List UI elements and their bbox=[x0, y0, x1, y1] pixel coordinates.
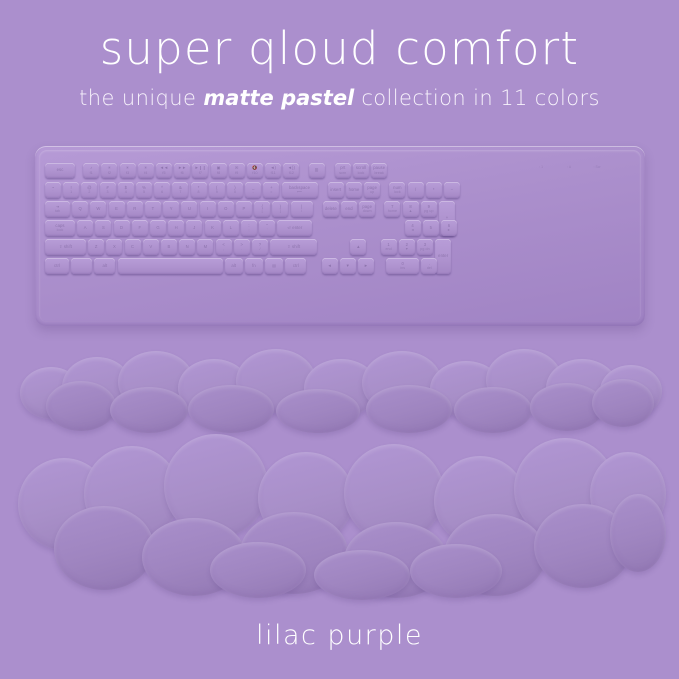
key-[interactable]: ✉f9 bbox=[229, 163, 245, 178]
key-[interactable]: }] bbox=[272, 201, 288, 217]
key-legend-secondary: f6 bbox=[181, 171, 184, 175]
key-insert[interactable]: insert bbox=[328, 182, 344, 198]
key-legend-secondary: f7 bbox=[199, 171, 202, 175]
key-[interactable]: ► bbox=[358, 258, 374, 274]
key-backspace[interactable]: backspace⟵ bbox=[282, 182, 318, 198]
wrist-rest-lobe bbox=[276, 389, 360, 433]
key-legend-secondary: del bbox=[427, 266, 432, 270]
key-legend: − bbox=[451, 188, 454, 193]
key-k[interactable]: K bbox=[205, 220, 221, 236]
key-legend-secondary: end bbox=[385, 247, 391, 251]
key-legend-secondary: f12 bbox=[289, 171, 294, 175]
key-num[interactable]: numlock bbox=[389, 182, 405, 198]
key-legend: Z bbox=[95, 245, 98, 250]
key-o[interactable]: O bbox=[218, 201, 234, 217]
key-w[interactable]: W bbox=[90, 201, 106, 217]
wrist-rest-lobe bbox=[210, 542, 306, 598]
key-page[interactable]: pagedown bbox=[359, 201, 375, 217]
key-[interactable]: − bbox=[444, 182, 460, 198]
key-[interactable]: ▣f8 bbox=[211, 163, 227, 178]
key-legend: A bbox=[84, 226, 87, 231]
key-[interactable]: ◄))f12 bbox=[283, 163, 299, 178]
key-shift[interactable]: ⇧ shift bbox=[270, 239, 317, 255]
key-legend: N bbox=[186, 245, 189, 250]
key-legend: esc bbox=[57, 168, 64, 173]
key-[interactable]: ~` bbox=[45, 182, 61, 198]
key-legend-secondary: . bbox=[241, 247, 242, 251]
key-legend-secondary: 3 bbox=[107, 190, 109, 194]
key-legend-secondary: lock bbox=[358, 171, 365, 175]
key-legend-secondary: f11 bbox=[271, 171, 276, 175]
key-shift[interactable]: ⇧ shift bbox=[45, 239, 86, 255]
key-legend: Q bbox=[79, 207, 82, 212]
key-6[interactable]: 6► bbox=[441, 220, 457, 236]
key-legend-secondary: 6 bbox=[161, 190, 163, 194]
key-legend-secondary: 5 bbox=[143, 190, 145, 194]
subheadline-prefix: the unique bbox=[79, 86, 203, 110]
key-f[interactable]: F bbox=[132, 220, 148, 236]
key-legend-secondary: scrn bbox=[339, 171, 346, 175]
key-[interactable]: / bbox=[408, 182, 424, 198]
key-legend: E bbox=[115, 207, 118, 212]
key-[interactable]: |\ bbox=[291, 201, 313, 217]
key-legend: alt bbox=[231, 264, 236, 269]
key-legend-secondary: 4 bbox=[125, 190, 127, 194]
key-[interactable]: ▼ bbox=[340, 258, 356, 274]
key-legend: Y bbox=[170, 207, 173, 212]
key-legend: ⏎ enter bbox=[287, 226, 302, 231]
key-end[interactable]: end bbox=[341, 201, 357, 217]
key-legend: ► bbox=[364, 264, 368, 269]
key-legend: ▤ bbox=[272, 264, 276, 269]
key-legend: end bbox=[345, 207, 352, 212]
key-[interactable]: ◄◄f5 bbox=[156, 163, 172, 178]
key-legend-secondary: ▲ bbox=[409, 209, 413, 213]
mouse-wrist-rest bbox=[14, 432, 666, 602]
key-legend-secondary: f5 bbox=[162, 171, 165, 175]
wrist-rest-lobe bbox=[110, 387, 188, 433]
key-7[interactable]: 7home bbox=[384, 201, 400, 217]
key-legend-secondary: f9 bbox=[235, 171, 238, 175]
key-legend: delete bbox=[325, 207, 337, 212]
key-fn[interactable]: fn bbox=[245, 258, 263, 274]
key-legend-secondary: f2 bbox=[108, 171, 111, 175]
key-legend: F bbox=[138, 226, 141, 231]
key-[interactable]: >. bbox=[234, 239, 250, 255]
key-ctrl[interactable]: ctrl bbox=[45, 258, 69, 274]
key-8[interactable]: 8▲ bbox=[403, 201, 419, 217]
key-[interactable]: += bbox=[263, 182, 279, 198]
key-legend-secondary: ' bbox=[267, 228, 268, 232]
key-x[interactable]: X bbox=[106, 239, 122, 255]
key-legend-secondary: 9 bbox=[216, 190, 218, 194]
key-[interactable]: ►►f6 bbox=[174, 163, 190, 178]
key-[interactable]: ⇥tab bbox=[45, 201, 70, 217]
key-legend: / bbox=[415, 188, 416, 193]
key-legend: fn bbox=[252, 264, 256, 269]
key-[interactable]: {[ bbox=[254, 201, 270, 217]
key-legend: K bbox=[211, 226, 214, 231]
key-[interactable]: ►❙❙f7 bbox=[192, 163, 208, 178]
key-d[interactable]: D bbox=[114, 220, 130, 236]
subheadline-emphasis: matte pastel bbox=[203, 86, 354, 110]
key-[interactable]: $4 bbox=[118, 182, 134, 198]
key-legend-secondary: home bbox=[388, 209, 397, 213]
key-[interactable]: %5 bbox=[136, 182, 152, 198]
key-legend: I bbox=[207, 207, 208, 212]
key-esc[interactable]: esc bbox=[45, 163, 75, 178]
key-legend-secondary: - bbox=[253, 190, 254, 194]
key-legend-secondary: lock bbox=[394, 190, 401, 194]
key-legend-secondary: ins bbox=[400, 266, 405, 270]
wrist-rest-lobe bbox=[188, 385, 274, 433]
key-legend: S bbox=[102, 226, 105, 231]
key-legend-secondary: f8 bbox=[217, 171, 220, 175]
key-[interactable]: &7 bbox=[172, 182, 188, 198]
key-legend: ctrl bbox=[54, 264, 60, 269]
key-[interactable]: @2 bbox=[81, 182, 97, 198]
key-0[interactable]: 0ins bbox=[386, 258, 419, 274]
key-legend: T bbox=[152, 207, 155, 212]
wrist-rest-lobe bbox=[610, 494, 666, 572]
key-u[interactable]: U bbox=[181, 201, 197, 217]
key-prt[interactable]: prtscrn bbox=[335, 163, 351, 178]
wrist-rest-lobe bbox=[314, 550, 410, 600]
key-legend-secondary: 0 bbox=[234, 190, 236, 194]
key-[interactable]: ▤ bbox=[265, 258, 283, 274]
key-[interactable]: _- bbox=[245, 182, 261, 198]
key-blank[interactable] bbox=[71, 258, 92, 274]
key-legend-secondary: pg up bbox=[424, 209, 434, 213]
keyboard-wrist-rest bbox=[18, 345, 662, 435]
key-blank[interactable] bbox=[118, 258, 223, 274]
key-legend-secondary: f10 bbox=[252, 171, 257, 175]
key-legend-secondary: ] bbox=[280, 209, 281, 213]
key-legend-secondary: / bbox=[259, 247, 260, 251]
key-g[interactable]: G bbox=[150, 220, 166, 236]
key-legend: enter bbox=[438, 254, 448, 259]
keyboard-product-image: esc♪f1✳f2✳f3✳f4◄◄f5►►f6►❙❙f7▣f8✉f9🔇f10◄)… bbox=[35, 146, 645, 326]
key-legend: ctrl bbox=[293, 264, 299, 269]
wrist-rest-lobe bbox=[410, 544, 502, 598]
key-2[interactable]: 2▼ bbox=[399, 239, 415, 255]
key-legend: ⇧ shift bbox=[59, 245, 72, 250]
key-legend-secondary: ⟵ bbox=[297, 190, 302, 194]
key-legend-secondary: ; bbox=[248, 228, 249, 232]
key-legend: V bbox=[149, 245, 152, 250]
key-v[interactable]: V bbox=[143, 239, 159, 255]
key-a[interactable]: A bbox=[77, 220, 93, 236]
key-legend-secondary: ` bbox=[52, 190, 53, 194]
key-y[interactable]: Y bbox=[163, 201, 179, 217]
key-page[interactable]: pageup bbox=[364, 182, 380, 198]
key-legend-secondary: ► bbox=[447, 228, 451, 232]
key-delete[interactable]: delete bbox=[323, 201, 339, 217]
key-p[interactable]: P bbox=[236, 201, 252, 217]
key-legend: 5 bbox=[430, 226, 432, 231]
key-legend: H bbox=[175, 226, 178, 231]
key-legend: X bbox=[113, 245, 116, 250]
wrist-rest-lobe bbox=[454, 387, 532, 433]
key-pause[interactable]: pausebreak bbox=[371, 163, 387, 178]
key-legend-secondary: ▼ bbox=[405, 247, 409, 251]
key-[interactable]: !1 bbox=[63, 182, 79, 198]
key-legend-secondary: pg dn bbox=[420, 247, 430, 251]
key-scroll[interactable]: scrolllock bbox=[353, 163, 369, 178]
key-q[interactable]: Q bbox=[72, 201, 88, 217]
key-[interactable]: ◄)f11 bbox=[265, 163, 281, 178]
key-[interactable]: ▲ bbox=[350, 239, 366, 255]
wrist-rest-lobe bbox=[366, 385, 452, 433]
key-c[interactable]: C bbox=[125, 239, 141, 255]
key-legend: C bbox=[131, 245, 134, 250]
key-b[interactable]: B bbox=[161, 239, 177, 255]
key-legend-secondary: 7 bbox=[179, 190, 181, 194]
key-legend-secondary: down bbox=[363, 209, 372, 213]
key-enter[interactable]: ⏎ enter bbox=[277, 220, 312, 236]
key-legend: home bbox=[349, 188, 360, 193]
key-legend-secondary: f3 bbox=[126, 171, 129, 175]
key-4[interactable]: 4◄ bbox=[405, 220, 421, 236]
key-home[interactable]: home bbox=[346, 182, 362, 198]
key-legend: ▼ bbox=[346, 264, 350, 269]
key-[interactable]: *8 bbox=[191, 182, 207, 198]
key-l[interactable]: L bbox=[223, 220, 239, 236]
key-legend: G bbox=[156, 226, 159, 231]
key-enter[interactable]: enter bbox=[435, 239, 451, 274]
key-legend: M bbox=[204, 245, 208, 250]
key-r[interactable]: R bbox=[127, 201, 143, 217]
key-legend: ⇧ shift bbox=[287, 245, 300, 250]
key-n[interactable]: N bbox=[179, 239, 195, 255]
key-[interactable]: ✳f2 bbox=[101, 163, 117, 178]
key-legend-secondary: ◄ bbox=[411, 228, 415, 232]
key-[interactable]: "' bbox=[259, 220, 275, 236]
key-[interactable]: #3 bbox=[100, 182, 116, 198]
wrist-rest-lobe bbox=[592, 379, 654, 427]
key-z[interactable]: Z bbox=[88, 239, 104, 255]
key-[interactable]: ✳f3 bbox=[120, 163, 136, 178]
key-legend: ▥ bbox=[315, 168, 319, 173]
wrist-rest-lobe bbox=[54, 506, 154, 590]
key-[interactable]: )0 bbox=[227, 182, 243, 198]
key-legend-secondary: 2 bbox=[88, 190, 90, 194]
key-[interactable]: ^6 bbox=[154, 182, 170, 198]
key-legend-secondary: , bbox=[223, 247, 224, 251]
key-[interactable]: 🔇f10 bbox=[247, 163, 263, 178]
key-legend: * bbox=[433, 188, 435, 193]
key-e[interactable]: E bbox=[109, 201, 125, 217]
indicator-led-0: ◦ 1 bbox=[535, 164, 547, 169]
key-[interactable]: ?/ bbox=[252, 239, 268, 255]
key-legend: insert bbox=[330, 188, 341, 193]
key-ctrl[interactable]: ctrl bbox=[285, 258, 306, 274]
key-[interactable]: ✳f4 bbox=[138, 163, 154, 178]
key-[interactable]: <, bbox=[216, 239, 232, 255]
key-[interactable]: (9 bbox=[209, 182, 225, 198]
key-[interactable]: * bbox=[426, 182, 442, 198]
key-legend-secondary: tab bbox=[55, 209, 60, 213]
key-legend: ▲ bbox=[356, 245, 360, 250]
key-legend-secondary: up bbox=[370, 190, 374, 194]
key-m[interactable]: M bbox=[197, 239, 213, 255]
key-legend: P bbox=[243, 207, 246, 212]
key-legend-secondary: = bbox=[270, 190, 272, 194]
key-1[interactable]: 1end bbox=[381, 239, 397, 255]
key-[interactable]: ◄ bbox=[322, 258, 338, 274]
key-[interactable]: :; bbox=[241, 220, 257, 236]
indicator-led-1: ◦ A bbox=[563, 164, 575, 169]
key-legend-secondary: f1 bbox=[90, 171, 93, 175]
key-caps[interactable]: capslock bbox=[45, 220, 75, 236]
key-h[interactable]: H bbox=[168, 220, 184, 236]
key-legend: D bbox=[120, 226, 123, 231]
key-legend: W bbox=[96, 207, 100, 212]
key-i[interactable]: I bbox=[200, 201, 216, 217]
key-legend: B bbox=[168, 245, 171, 250]
key-legend-secondary: [ bbox=[262, 209, 263, 213]
key-legend: O bbox=[224, 207, 227, 212]
key-[interactable]: ♪f1 bbox=[83, 163, 99, 178]
key-5[interactable]: 5 bbox=[423, 220, 439, 236]
key-legend-secondary: f4 bbox=[144, 171, 147, 175]
page-headline: super qloud comfort bbox=[0, 22, 679, 75]
key-[interactable]: .del bbox=[421, 258, 437, 274]
page-subheadline: the unique matte pastel collection in 11… bbox=[0, 86, 679, 110]
key-legend-secondary: 8 bbox=[198, 190, 200, 194]
key-j[interactable]: J bbox=[186, 220, 202, 236]
key-alt[interactable]: alt bbox=[94, 258, 115, 274]
subheadline-suffix: collection in 11 colors bbox=[354, 86, 600, 110]
key-s[interactable]: S bbox=[95, 220, 111, 236]
key-legend-secondary: \ bbox=[301, 209, 302, 213]
key-legend: J bbox=[193, 226, 195, 231]
color-name-caption: lilac purple bbox=[0, 620, 679, 651]
key-9[interactable]: 9pg up bbox=[421, 201, 437, 217]
key-legend-secondary: 1 bbox=[70, 190, 72, 194]
wrist-rest-lobe bbox=[46, 381, 116, 431]
key-legend: alt bbox=[103, 264, 108, 269]
indicator-led-2: ◦ Scr bbox=[591, 164, 603, 169]
key-legend-secondary: break bbox=[374, 171, 384, 175]
key-alt[interactable]: alt bbox=[225, 258, 243, 274]
key-legend: ◄ bbox=[327, 264, 331, 269]
key-3[interactable]: 3pg dn bbox=[417, 239, 433, 255]
key-[interactable]: ▥ bbox=[309, 163, 325, 178]
key-legend-secondary: lock bbox=[57, 228, 64, 232]
key-t[interactable]: T bbox=[145, 201, 161, 217]
key-legend: L bbox=[230, 226, 232, 231]
key-legend: R bbox=[133, 207, 136, 212]
key-legend: U bbox=[188, 207, 191, 212]
